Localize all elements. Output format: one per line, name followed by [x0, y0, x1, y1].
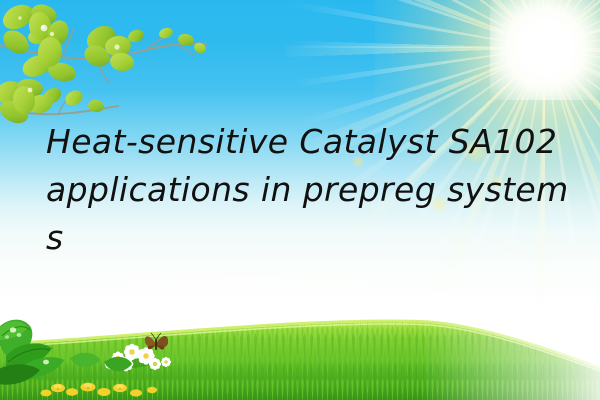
grass-hill-group — [0, 300, 600, 400]
banner-image: Heat-sensitive Catalyst SA102 applicatio… — [0, 0, 600, 400]
grass-hill-svg — [0, 300, 600, 400]
page-title: Heat-sensitive Catalyst SA102 applicatio… — [46, 118, 576, 262]
sun-core — [490, 0, 600, 100]
